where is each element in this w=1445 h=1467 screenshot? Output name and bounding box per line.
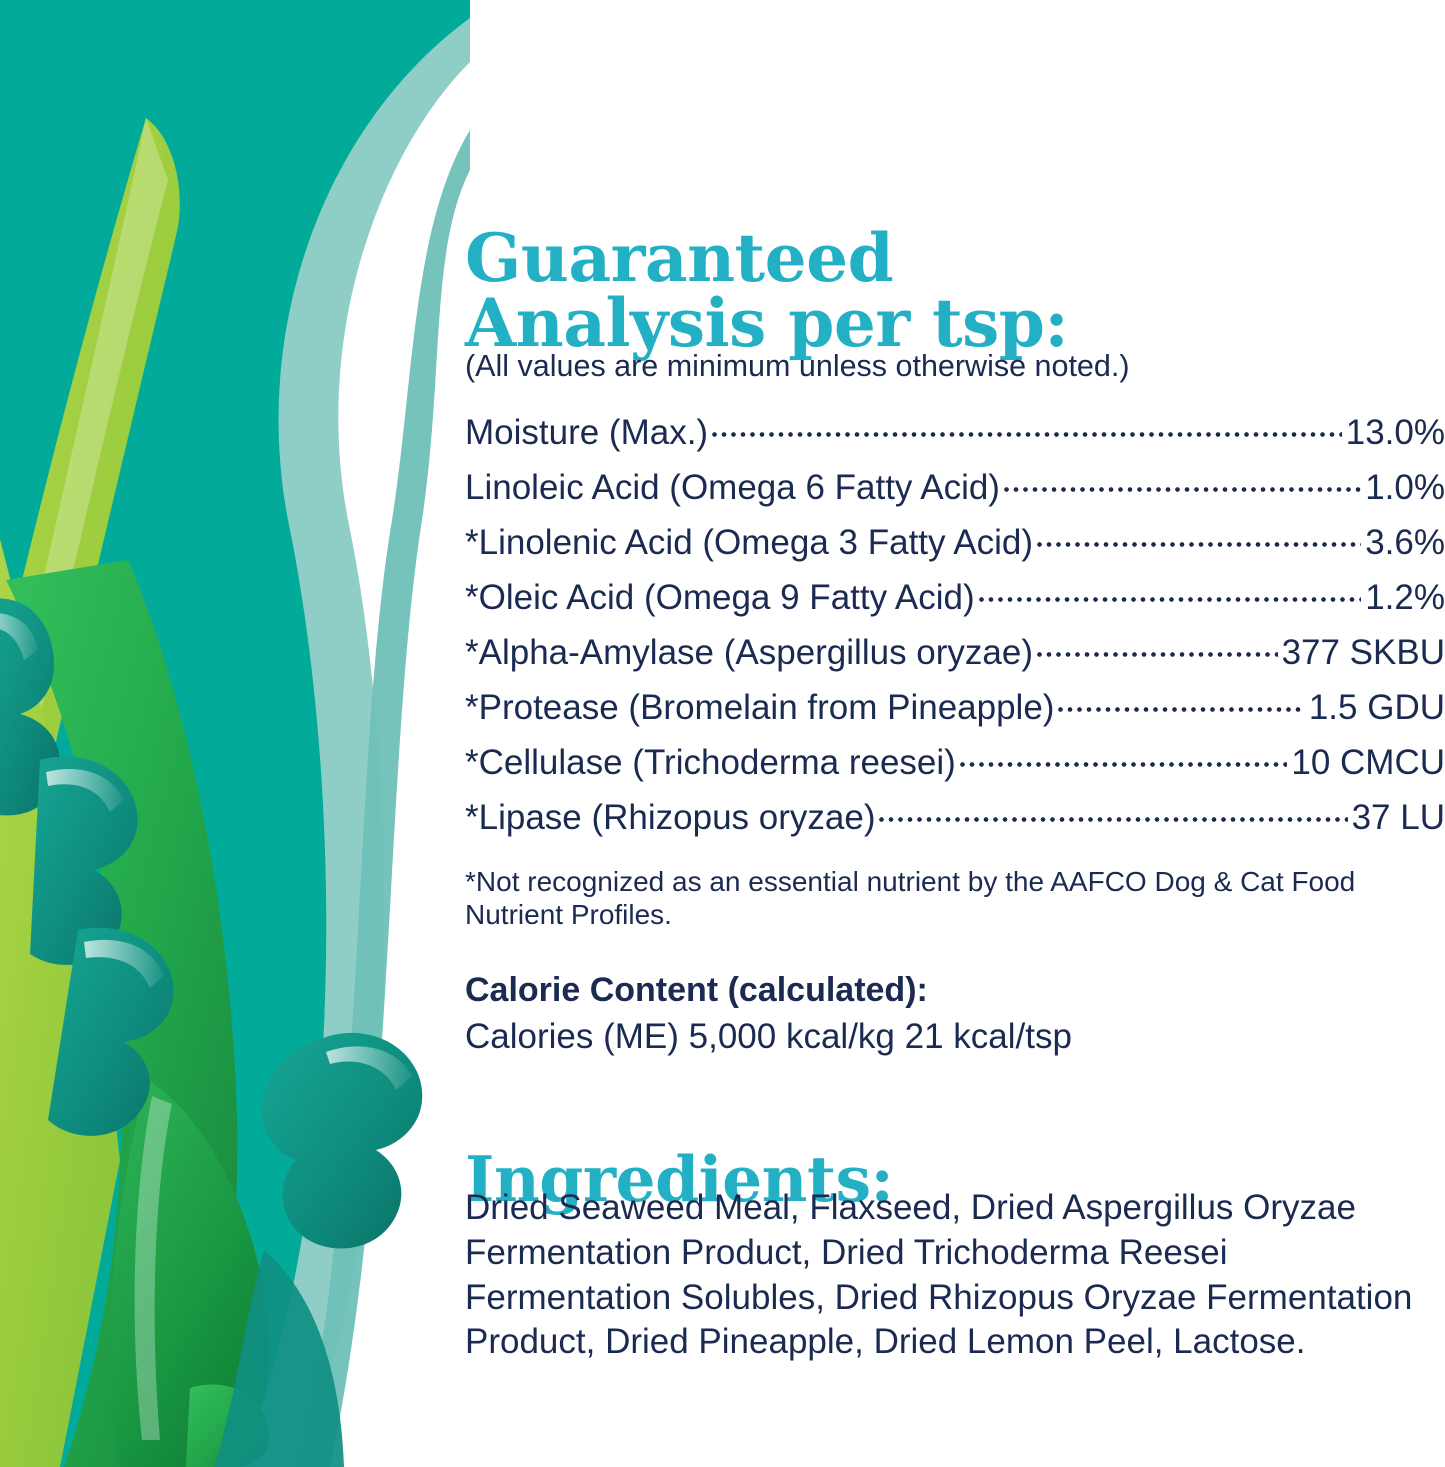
nutrient-row: *Linolenic Acid (Omega 3 Fatty Acid) 3.6… [465, 519, 1445, 574]
dot-leader [960, 739, 1288, 774]
guaranteed-analysis-title-line2: Analysis per tsp: [465, 291, 1068, 356]
dot-leader [1058, 684, 1304, 719]
nutrient-row: *Protease (Bromelain from Pineapple) 1.5… [465, 684, 1445, 739]
label-content: Guaranteed Analysis per tsp: (All values… [463, 0, 1445, 1467]
nutrient-label: *Cellulase (Trichoderma reesei) [465, 743, 956, 783]
nutrient-label: *Linolenic Acid (Omega 3 Fatty Acid) [465, 523, 1033, 563]
nutrient-label: Moisture (Max.) [465, 413, 708, 453]
nutrient-label: Linoleic Acid (Omega 6 Fatty Acid) [465, 468, 1000, 508]
seaweed-illustration [0, 0, 470, 1467]
nutrient-value: 1.5 GDU [1309, 688, 1445, 728]
ingredients-list: Dried Seaweed Meal, Flaxseed, Dried Aspe… [465, 1186, 1437, 1365]
nutrient-label: *Alpha-Amylase (Aspergillus oryzae) [465, 633, 1033, 673]
nutrient-row: *Cellulase (Trichoderma reesei) 10 CMCU [465, 739, 1445, 794]
nutrient-value: 1.0% [1365, 468, 1445, 508]
nutrient-row: Moisture (Max.) 13.0% [465, 409, 1445, 464]
nutrient-row: *Oleic Acid (Omega 9 Fatty Acid) 1.2% [465, 574, 1445, 629]
dot-leader [1037, 519, 1361, 554]
guaranteed-analysis-label: Guaranteed Analysis per tsp: (All values… [0, 0, 1445, 1467]
nutrient-row: *Alpha-Amylase (Aspergillus oryzae) 377 … [465, 629, 1445, 684]
dot-leader [1037, 629, 1278, 664]
dot-leader [979, 574, 1362, 609]
aafco-footnote: *Not recognized as an essential nutrient… [465, 866, 1430, 932]
nutrient-label: *Protease (Bromelain from Pineapple) [465, 688, 1054, 728]
nutrient-table: Moisture (Max.) 13.0% Linoleic Acid (Ome… [465, 409, 1445, 849]
dot-leader [1004, 464, 1361, 499]
guaranteed-analysis-title: Guaranteed Analysis per tsp: [465, 226, 1068, 355]
calorie-content-heading: Calorie Content (calculated): [465, 971, 928, 1010]
guaranteed-analysis-note: (All values are minimum unless otherwise… [465, 349, 1130, 384]
calorie-content-value: Calories (ME) 5,000 kcal/kg 21 kcal/tsp [465, 1017, 1072, 1057]
nutrient-value: 13.0% [1346, 413, 1445, 453]
dot-leader [712, 409, 1342, 444]
nutrient-row: *Lipase (Rhizopus oryzae) 37 LU [465, 794, 1445, 849]
nutrient-value: 37 LU [1352, 798, 1445, 838]
nutrient-label: *Oleic Acid (Omega 9 Fatty Acid) [465, 578, 975, 618]
nutrient-row: Linoleic Acid (Omega 6 Fatty Acid) 1.0% [465, 464, 1445, 519]
nutrient-value: 3.6% [1365, 523, 1445, 563]
nutrient-value: 10 CMCU [1291, 743, 1445, 783]
nutrient-value: 377 SKBU [1282, 633, 1445, 673]
dot-leader [879, 794, 1347, 829]
nutrient-value: 1.2% [1365, 578, 1445, 618]
nutrient-label: *Lipase (Rhizopus oryzae) [465, 798, 875, 838]
guaranteed-analysis-title-line1: Guaranteed [465, 226, 1068, 291]
